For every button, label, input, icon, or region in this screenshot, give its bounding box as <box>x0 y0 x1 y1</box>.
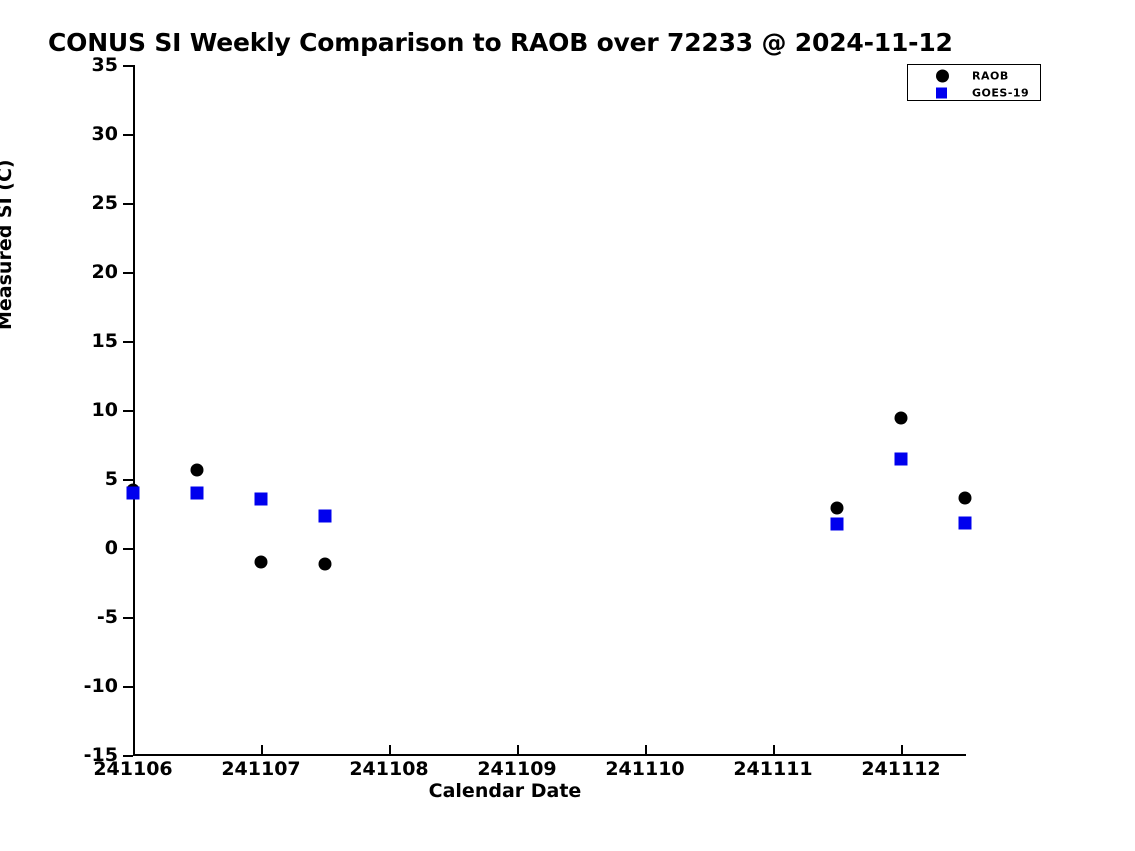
x-tick-label: 241109 <box>477 758 556 780</box>
data-point-raob <box>255 555 268 568</box>
legend-entry: RAOB <box>908 67 1040 84</box>
chart-legend: RAOBGOES-19 <box>907 64 1041 101</box>
x-tick-label: 241111 <box>733 758 812 780</box>
y-tick-mark <box>123 203 133 205</box>
y-tick-mark <box>123 479 133 481</box>
x-tick-mark <box>517 745 519 756</box>
data-point-goes-19 <box>959 517 972 530</box>
y-tick-mark <box>123 272 133 274</box>
y-tick-label: 20 <box>92 261 118 283</box>
x-tick-mark <box>389 745 391 756</box>
y-axis-label: Measured SI (C) <box>0 159 16 330</box>
legend-label: GOES-19 <box>972 86 1029 99</box>
x-tick-label: 241110 <box>605 758 684 780</box>
data-point-goes-19 <box>127 486 140 499</box>
plot-area: 35302520151050-5-10-15 <box>133 65 965 755</box>
data-point-raob <box>895 412 908 425</box>
y-tick-label: 35 <box>92 54 118 76</box>
y-tick-label: -5 <box>97 606 118 628</box>
data-point-raob <box>831 501 844 514</box>
y-tick-label: 0 <box>105 537 118 559</box>
data-point-raob <box>191 464 204 477</box>
y-tick-label: 15 <box>92 330 118 352</box>
y-tick-label: 10 <box>92 399 118 421</box>
y-tick-mark <box>123 410 133 412</box>
data-point-goes-19 <box>831 517 844 530</box>
x-tick-label: 241112 <box>861 758 940 780</box>
data-point-raob <box>319 557 332 570</box>
y-tick-mark <box>123 134 133 136</box>
x-tick-label: 241107 <box>221 758 300 780</box>
data-point-goes-19 <box>191 486 204 499</box>
x-tick-mark <box>773 745 775 756</box>
circle-marker-icon <box>936 69 949 82</box>
x-tick-mark <box>261 745 263 756</box>
data-point-goes-19 <box>255 493 268 506</box>
x-tick-label: 241108 <box>349 758 428 780</box>
y-tick-label: -10 <box>84 675 118 697</box>
x-tick-label: 241106 <box>93 758 172 780</box>
y-tick-mark <box>123 65 133 67</box>
data-point-goes-19 <box>319 510 332 523</box>
data-point-goes-19 <box>895 452 908 465</box>
square-marker-icon <box>936 87 947 98</box>
x-axis-label: Calendar Date <box>0 780 1010 802</box>
legend-label: RAOB <box>972 69 1009 82</box>
y-tick-mark <box>123 341 133 343</box>
y-tick-label: 25 <box>92 192 118 214</box>
y-tick-mark <box>123 755 133 757</box>
y-tick-mark <box>123 617 133 619</box>
y-tick-mark <box>123 686 133 688</box>
y-tick-label: 5 <box>105 468 118 490</box>
page-title: CONUS SI Weekly Comparison to RAOB over … <box>48 28 953 57</box>
y-tick-mark <box>123 548 133 550</box>
x-tick-mark <box>901 745 903 756</box>
y-tick-label: 30 <box>92 123 118 145</box>
x-tick-mark <box>133 745 135 756</box>
x-tick-mark <box>645 745 647 756</box>
chart-figure: CONUS SI Weekly Comparison to RAOB over … <box>0 0 1135 851</box>
legend-entry: GOES-19 <box>908 84 1040 101</box>
data-point-raob <box>959 492 972 505</box>
